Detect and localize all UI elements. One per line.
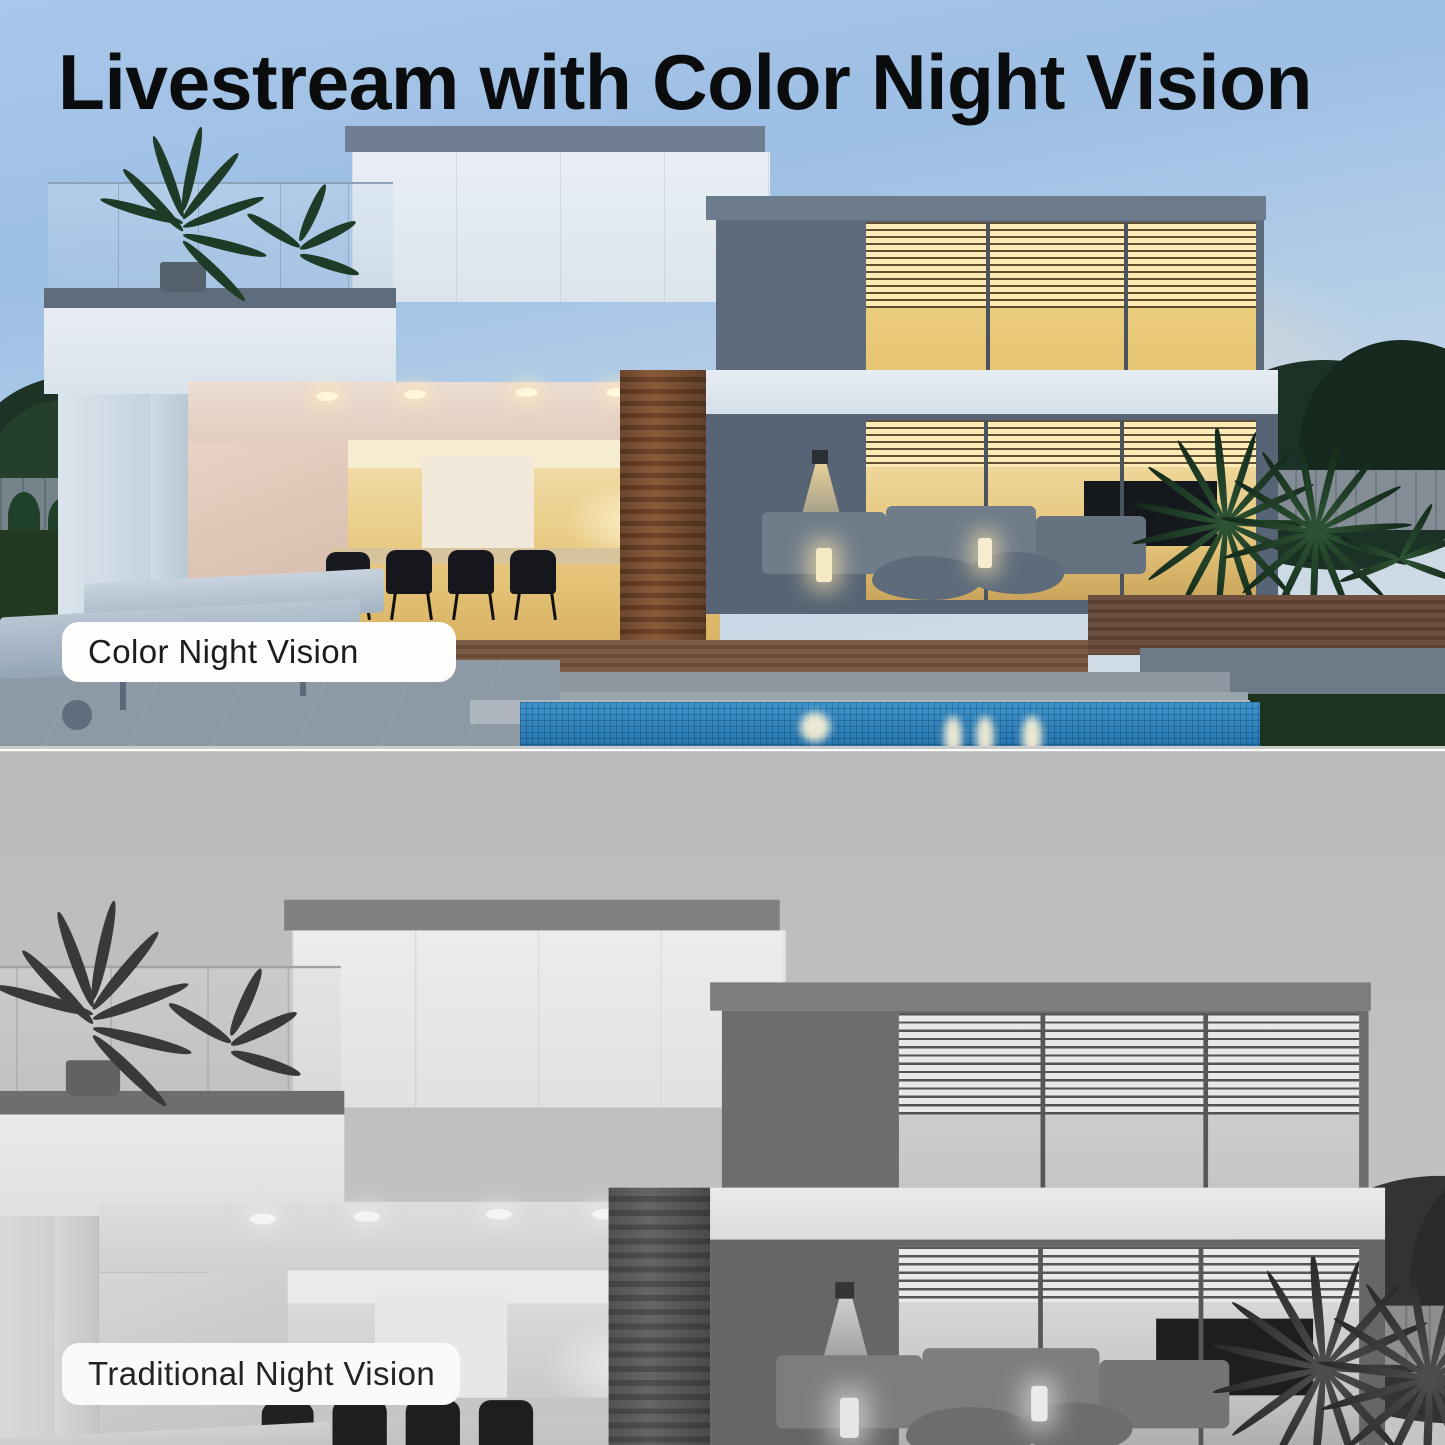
lounger-wheel xyxy=(62,700,92,730)
window-blinds-upper-gray xyxy=(899,1013,1359,1114)
dining-chair-4-gray xyxy=(479,1400,533,1445)
exterior-wall-lamp xyxy=(812,450,828,464)
window-blinds-lower xyxy=(866,420,1256,467)
pool-reflection-1 xyxy=(800,712,830,742)
ceiling-downlight-2-gray xyxy=(354,1211,380,1222)
dining-chair-3 xyxy=(448,550,494,594)
deck-lantern-2-gray xyxy=(1031,1386,1048,1421)
pool-reflection-2 xyxy=(944,716,962,748)
upper-left-facade xyxy=(352,152,770,302)
right-wing-roof-band xyxy=(706,196,1266,220)
ceiling-downlight-1 xyxy=(316,392,338,401)
ceiling-downlight-3-gray xyxy=(486,1209,512,1220)
right-wing-floor-band xyxy=(706,370,1278,414)
roof-band-left-gray xyxy=(284,900,780,931)
dining-chair-3-gray xyxy=(406,1400,460,1445)
wood-slat-shading-gray xyxy=(609,1188,710,1445)
beanbag-1 xyxy=(872,556,982,600)
deck-lantern-gray xyxy=(840,1398,859,1438)
window-blinds-upper xyxy=(866,222,1256,308)
dining-chair-4 xyxy=(510,550,556,594)
roof-band-left xyxy=(345,126,765,152)
panel-divider xyxy=(0,746,1445,749)
upper-window-lit-gray xyxy=(899,1013,1359,1188)
comparison-image: Color Night Vision xyxy=(0,0,1445,1445)
page-title: Livestream with Color Night Vision xyxy=(58,38,1388,126)
upper-left-facade-gray xyxy=(292,930,785,1107)
terrace-column-2-gray xyxy=(54,1216,99,1445)
swimming-pool xyxy=(520,702,1260,748)
badge-color-night-vision[interactable]: Color Night Vision xyxy=(62,622,456,682)
right-wing-floor-band-gray xyxy=(710,1188,1385,1240)
dining-table xyxy=(330,548,670,564)
deck-lantern xyxy=(816,548,832,582)
roof-planter-gray xyxy=(66,1060,120,1095)
badge-traditional-night-vision[interactable]: Traditional Night Vision xyxy=(62,1343,460,1405)
roof-planter xyxy=(160,262,206,292)
dining-chair-2 xyxy=(386,550,432,594)
badge-color-night-vision-label: Color Night Vision xyxy=(88,633,359,671)
ceiling-downlight-2 xyxy=(404,390,426,399)
pool-reflection-3 xyxy=(976,716,994,748)
balustrade-cap xyxy=(44,288,396,308)
right-wing-roof-band-gray xyxy=(710,982,1371,1010)
deck-lantern-2 xyxy=(978,538,992,568)
window-blinds-lower-gray xyxy=(899,1247,1359,1302)
ceiling-downlight-1-gray xyxy=(250,1214,276,1225)
panel-traditional-night-vision: Traditional Night Vision xyxy=(0,748,1445,1445)
badge-traditional-night-vision-label: Traditional Night Vision xyxy=(88,1355,435,1393)
left-white-block-gray xyxy=(0,1115,344,1216)
upper-window-lit xyxy=(866,222,1256,370)
scene-grayscale xyxy=(0,751,1445,1445)
pool-reflection-4 xyxy=(1022,716,1042,748)
exterior-wall-lamp-gray xyxy=(835,1282,854,1299)
ceiling-downlight-3 xyxy=(516,388,538,397)
balustrade-cap-gray xyxy=(0,1091,344,1115)
wood-deck-right xyxy=(1088,595,1445,655)
dining-chair-2-gray xyxy=(333,1400,387,1445)
terrace-column-1-gray xyxy=(0,1216,54,1445)
